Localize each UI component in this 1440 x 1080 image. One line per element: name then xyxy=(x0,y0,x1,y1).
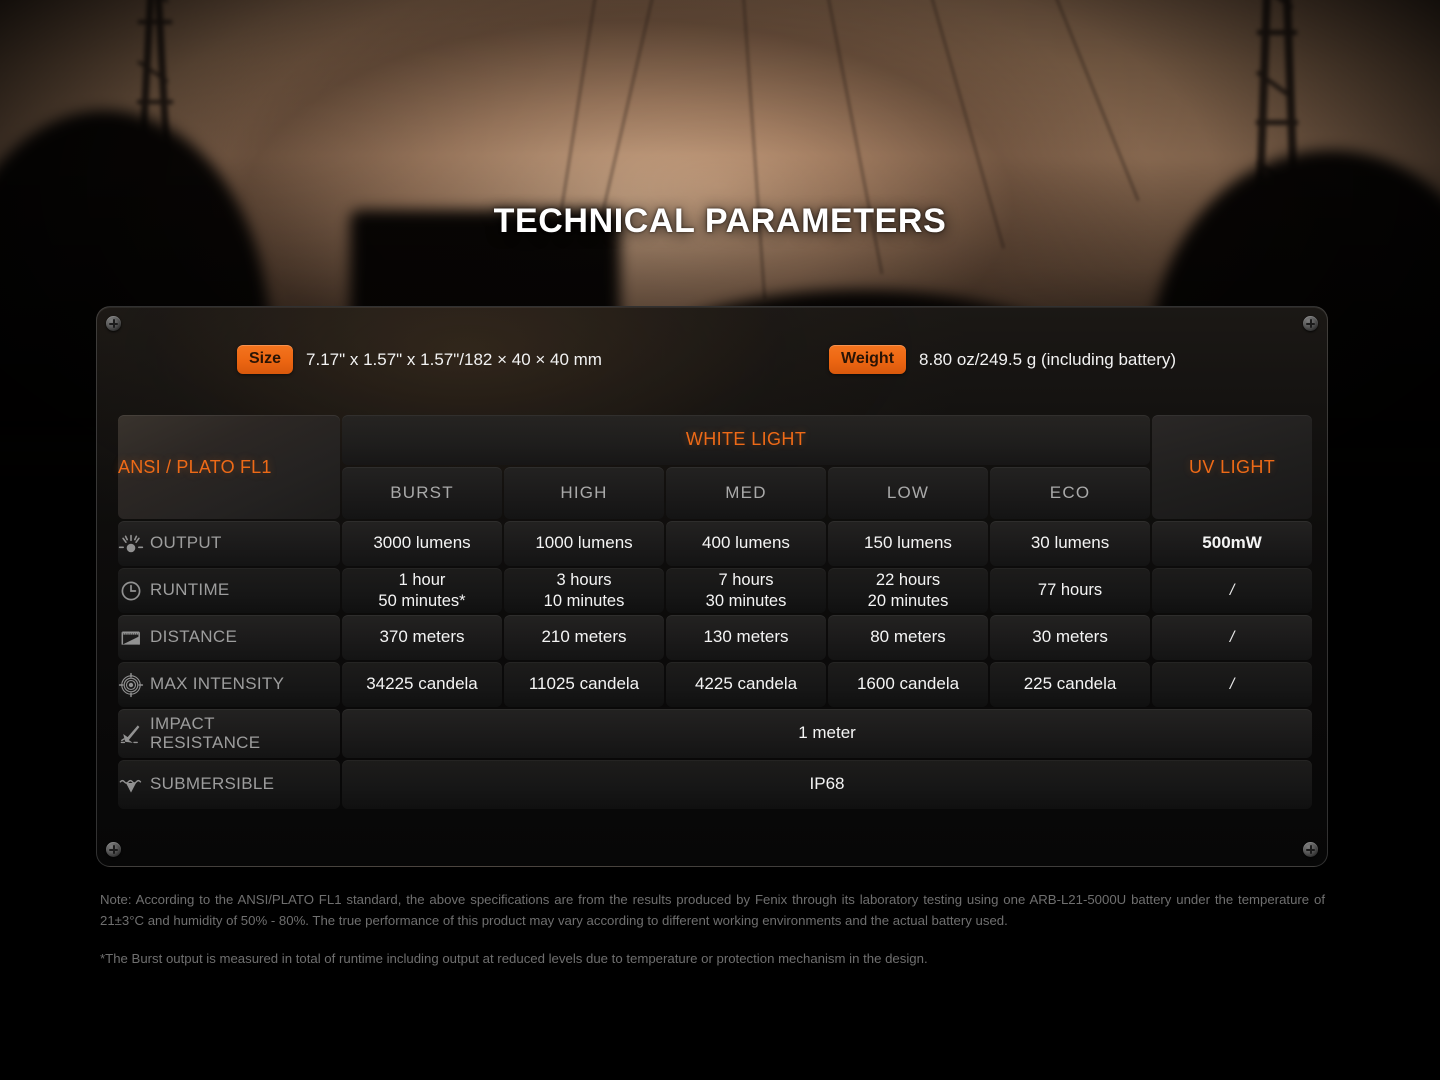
row-label-text: RUNTIME xyxy=(150,581,230,599)
table-header-row-group: ANSI / PLATO FL1 WHITE LIGHT UV LIGHT xyxy=(118,415,1312,465)
header-mode-low: LOW xyxy=(828,467,988,519)
note-standard: Note: According to the ANSI/PLATO FL1 st… xyxy=(100,890,1325,931)
cell-intensity-burst: 34225 candela xyxy=(342,662,502,707)
row-label-submersible: SUBMERSIBLE xyxy=(118,760,340,809)
size-value: 7.17" x 1.57" x 1.57"/182 × 40 × 40 mm xyxy=(306,350,602,370)
cell-runtime-burst: 1 hour50 minutes* xyxy=(342,568,502,613)
cell-submersible-value: IP68 xyxy=(342,760,1312,809)
header-white-light: WHITE LIGHT xyxy=(342,415,1150,465)
screenshot-root: TECHNICAL PARAMETERS Size 7.17" x 1.57" … xyxy=(0,0,1440,1080)
cell-distance-low: 80 meters xyxy=(828,615,988,660)
note-burst: *The Burst output is measured in total o… xyxy=(100,949,1325,970)
row-label-distance: DISTANCE xyxy=(118,615,340,660)
cell-distance-high: 210 meters xyxy=(504,615,664,660)
header-mode-burst: BURST xyxy=(342,467,502,519)
cell-output-eco: 30 lumens xyxy=(990,521,1150,566)
row-label-text: DISTANCE xyxy=(150,628,237,646)
row-label-max-intensity: MAX INTENSITY xyxy=(118,662,340,707)
target-icon xyxy=(118,672,144,698)
cell-output-low: 150 lumens xyxy=(828,521,988,566)
row-label-output: OUTPUT xyxy=(118,521,340,566)
specifications-table: ANSI / PLATO FL1 WHITE LIGHT UV LIGHT BU… xyxy=(116,413,1314,811)
table-row: DISTANCE 370 meters 210 meters 130 meter… xyxy=(118,615,1312,660)
cell-intensity-low: 1600 candela xyxy=(828,662,988,707)
page-title: TECHNICAL PARAMETERS xyxy=(0,202,1440,241)
cell-intensity-uv: / xyxy=(1152,662,1312,707)
cell-impact-resistance-value: 1 meter xyxy=(342,709,1312,758)
cell-runtime-med: 7 hours30 minutes xyxy=(666,568,826,613)
screw-icon xyxy=(106,842,121,857)
cell-distance-burst: 370 meters xyxy=(342,615,502,660)
cell-output-uv: 500mW xyxy=(1152,521,1312,566)
header-mode-high: HIGH xyxy=(504,467,664,519)
clock-icon xyxy=(118,578,144,604)
impact-arrow-icon xyxy=(118,721,144,747)
row-label-text: OUTPUT xyxy=(150,534,222,552)
header-uv-light: UV LIGHT xyxy=(1152,415,1312,519)
cell-runtime-low: 22 hours20 minutes xyxy=(828,568,988,613)
header-mode-eco: ECO xyxy=(990,467,1150,519)
weight-value: 8.80 oz/249.5 g (including battery) xyxy=(919,350,1176,370)
screw-icon xyxy=(106,316,121,331)
spec-panel: Size 7.17" x 1.57" x 1.57"/182 × 40 × 40… xyxy=(96,306,1328,867)
cell-distance-uv: / xyxy=(1152,615,1312,660)
cell-runtime-uv: / xyxy=(1152,568,1312,613)
footnotes: Note: According to the ANSI/PLATO FL1 st… xyxy=(100,890,1325,970)
cell-runtime-high: 3 hours10 minutes xyxy=(504,568,664,613)
size-item: Size 7.17" x 1.57" x 1.57"/182 × 40 × 40… xyxy=(237,345,602,374)
table-row: RUNTIME 1 hour50 minutes* 3 hours10 minu… xyxy=(118,568,1312,613)
cell-output-burst: 3000 lumens xyxy=(342,521,502,566)
cell-runtime-eco: 77 hours xyxy=(990,568,1150,613)
row-label-text: SUBMERSIBLE xyxy=(150,775,274,793)
cell-distance-med: 130 meters xyxy=(666,615,826,660)
sun-burst-icon xyxy=(118,531,144,557)
header-mode-med: MED xyxy=(666,467,826,519)
table-row: IMPACTRESISTANCE 1 meter xyxy=(118,709,1312,758)
table-row: OUTPUT 3000 lumens 1000 lumens 400 lumen… xyxy=(118,521,1312,566)
cell-output-med: 400 lumens xyxy=(666,521,826,566)
row-label-text: MAX INTENSITY xyxy=(150,675,284,693)
row-label-text: IMPACTRESISTANCE xyxy=(150,715,260,752)
size-badge: Size xyxy=(237,345,293,374)
cell-intensity-med: 4225 candela xyxy=(666,662,826,707)
table-row: MAX INTENSITY 34225 candela 11025 candel… xyxy=(118,662,1312,707)
row-label-runtime: RUNTIME xyxy=(118,568,340,613)
cell-output-high: 1000 lumens xyxy=(504,521,664,566)
distance-beam-icon xyxy=(118,625,144,651)
weight-badge: Weight xyxy=(829,345,906,374)
row-label-impact-resistance: IMPACTRESISTANCE xyxy=(118,709,340,758)
cell-intensity-eco: 225 candela xyxy=(990,662,1150,707)
screw-icon xyxy=(1303,842,1318,857)
header-ansi-plato: ANSI / PLATO FL1 xyxy=(118,415,340,519)
cell-intensity-high: 11025 candela xyxy=(504,662,664,707)
screw-icon xyxy=(1303,316,1318,331)
size-weight-row: Size 7.17" x 1.57" x 1.57"/182 × 40 × 40… xyxy=(97,345,1327,383)
table-row: SUBMERSIBLE IP68 xyxy=(118,760,1312,809)
water-submersible-icon xyxy=(118,772,144,798)
cell-distance-eco: 30 meters xyxy=(990,615,1150,660)
weight-item: Weight 8.80 oz/249.5 g (including batter… xyxy=(829,345,1176,374)
